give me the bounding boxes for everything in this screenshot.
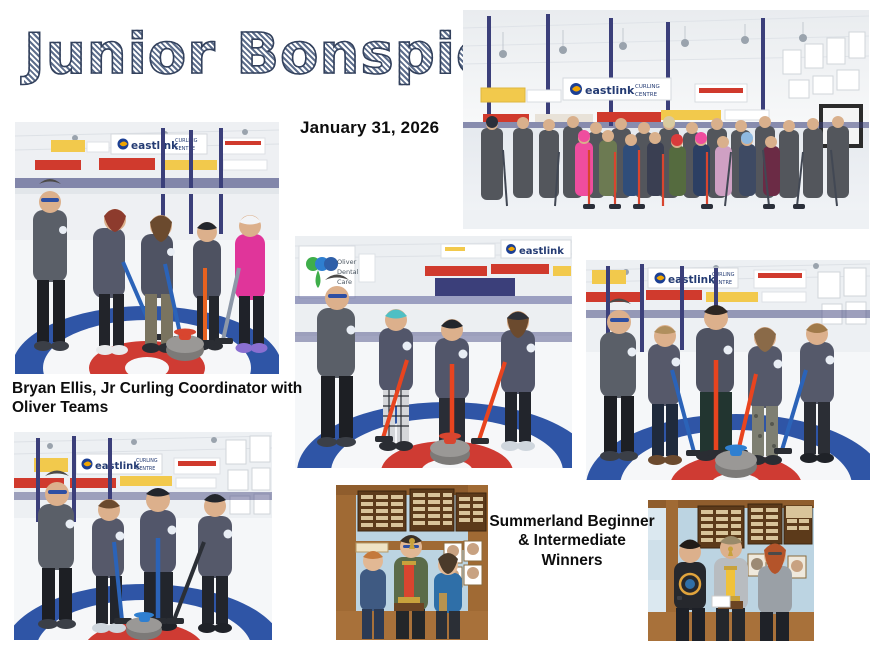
photo-oliver-teams-image: eastlink CURLING CENTRE (15, 122, 279, 374)
photo-team-bottom-image: eastlink CURLING CENTRE (14, 432, 272, 640)
svg-text:eastlink: eastlink (95, 461, 140, 472)
photo-team-right: eastlink CURLING CENTRE (586, 260, 870, 480)
photo-team-bottom: eastlink CURLING CENTRE (14, 432, 272, 640)
svg-text:CENTRE: CENTRE (635, 92, 658, 98)
caption-summerland-winners: Summerland Beginner & Intermediate Winne… (487, 512, 657, 570)
caption-bryan-ellis: Bryan Ellis, Jr Curling Coordinator with… (12, 379, 312, 418)
photo-trophy-center (336, 485, 488, 640)
photo-group-top: eastlink CURLING CENTRE (463, 10, 869, 229)
svg-text:CURLING: CURLING (136, 458, 158, 464)
svg-text:CURLING: CURLING (635, 84, 660, 90)
photo-trophy-center-image (336, 485, 488, 640)
photo-team-right-image: eastlink CURLING CENTRE (586, 260, 870, 480)
page-title: Junior Bonspiel (24, 22, 515, 88)
svg-text:Dental: Dental (337, 268, 359, 276)
svg-text:eastlink: eastlink (131, 140, 179, 152)
svg-text:Oliver: Oliver (337, 258, 357, 266)
event-date-label: January 31, 2026 (300, 118, 439, 138)
caption-summerland-line-3: Winners (487, 551, 657, 570)
svg-text:eastlink: eastlink (585, 84, 635, 97)
photo-oliver-mid-image: Oliver Dental Care eastlink (295, 236, 572, 468)
photo-group-top-image: eastlink CURLING CENTRE (463, 10, 869, 229)
presentation-slide: Junior Bonspiel January 31, 2026 (0, 0, 877, 654)
svg-text:eastlink: eastlink (668, 274, 716, 286)
caption-summerland-line-1: Summerland Beginner (487, 512, 657, 531)
svg-text:CURLING: CURLING (175, 138, 198, 144)
photo-oliver-teams: eastlink CURLING CENTRE (15, 122, 279, 374)
photo-trophy-right (648, 500, 814, 641)
svg-text:eastlink: eastlink (519, 246, 564, 257)
svg-text:CENTRE: CENTRE (136, 466, 155, 472)
photo-oliver-mid: Oliver Dental Care eastlink (295, 236, 572, 468)
svg-text:Care: Care (337, 278, 352, 286)
caption-summerland-line-2: & Intermediate (487, 531, 657, 550)
photo-trophy-right-image (648, 500, 814, 641)
